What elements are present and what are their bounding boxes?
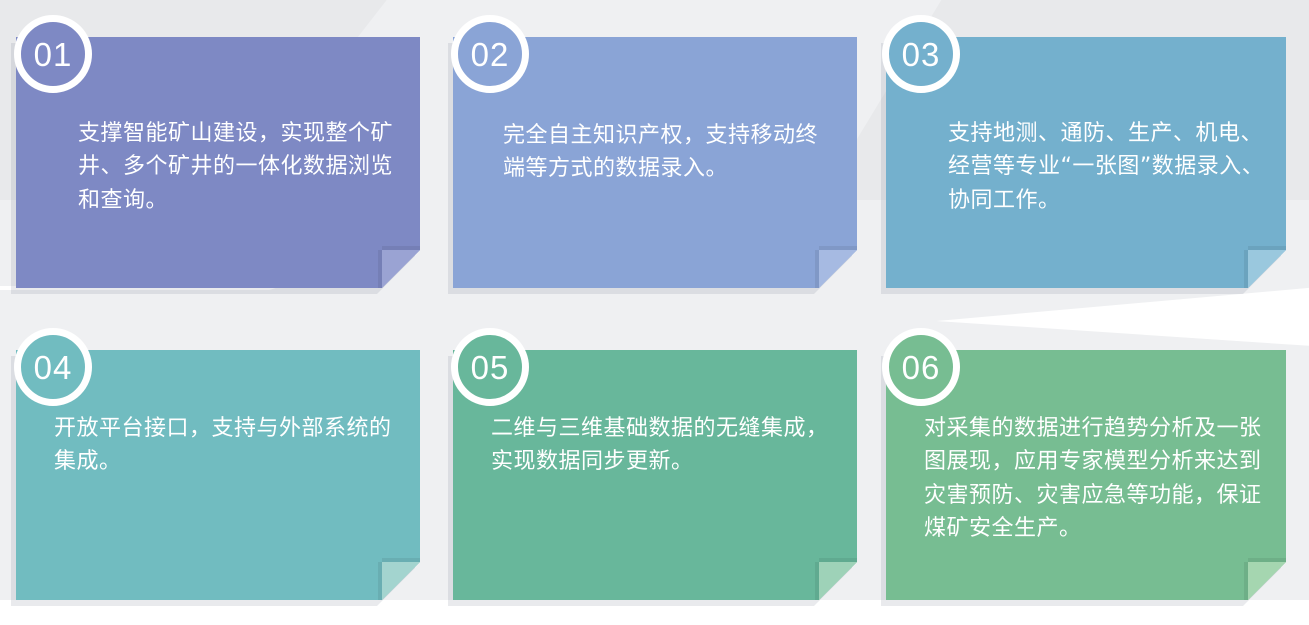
feature-card-06[interactable]: 06 对采集的数据进行趋势分析及一张图展现，应用专家模型分析来达到灾害预防、灾害…	[886, 350, 1286, 600]
feature-card-01[interactable]: 01 支撑智能矿山建设，实现整个矿井、多个矿井的一体化数据浏览和查询。	[16, 37, 420, 288]
folded-corner-icon	[819, 562, 857, 600]
card-number-badge: 06	[882, 328, 960, 406]
card-number-badge: 01	[14, 15, 92, 93]
folded-corner-icon	[382, 250, 420, 288]
card-fold-shadow-horizontal	[819, 558, 857, 562]
card-description: 对采集的数据进行趋势分析及一张图展现，应用专家模型分析来达到灾害预防、灾害应急等…	[924, 412, 1274, 546]
card-description: 开放平台接口，支持与外部系统的集成。	[54, 412, 404, 479]
card-fold-shadow-horizontal	[382, 246, 420, 250]
card-fold-shadow-vertical	[378, 562, 382, 600]
folded-corner-icon	[819, 250, 857, 288]
card-fold-shadow-horizontal	[1248, 558, 1286, 562]
card-fold-shadow-vertical	[815, 250, 819, 288]
feature-card-05[interactable]: 05 二维与三维基础数据的无缝集成，实现数据同步更新。	[453, 350, 857, 600]
card-fold-shadow-horizontal	[1248, 246, 1286, 250]
folded-corner-icon	[382, 562, 420, 600]
feature-card-02[interactable]: 02 完全自主知识产权，支持移动终端等方式的数据录入。	[453, 37, 857, 288]
card-fold-shadow-vertical	[1244, 250, 1248, 288]
card-number-badge: 05	[451, 328, 529, 406]
card-fold-shadow-vertical	[815, 562, 819, 600]
card-number-label: 04	[34, 351, 73, 384]
card-fold-shadow-vertical	[1244, 562, 1248, 600]
card-number-badge: 02	[451, 15, 529, 93]
card-fold-shadow-horizontal	[382, 558, 420, 562]
feature-card-04[interactable]: 04 开放平台接口，支持与外部系统的集成。	[16, 350, 420, 600]
card-description: 支持地测、通防、生产、机电、经营等专业“一张图”数据录入、协同工作。	[948, 117, 1273, 217]
card-description: 支撑智能矿山建设，实现整个矿井、多个矿井的一体化数据浏览和查询。	[78, 117, 398, 217]
card-number-label: 06	[902, 351, 941, 384]
slide-canvas: 01 支撑智能矿山建设，实现整个矿井、多个矿井的一体化数据浏览和查询。 02 完…	[0, 0, 1309, 625]
card-fold-shadow-vertical	[378, 250, 382, 288]
card-number-label: 03	[902, 38, 941, 71]
card-number-label: 02	[471, 38, 510, 71]
card-number-badge: 04	[14, 328, 92, 406]
card-description: 完全自主知识产权，支持移动终端等方式的数据录入。	[503, 119, 833, 186]
card-fold-shadow-horizontal	[819, 246, 857, 250]
feature-card-03[interactable]: 03 支持地测、通防、生产、机电、经营等专业“一张图”数据录入、协同工作。	[886, 37, 1286, 288]
card-number-label: 05	[471, 351, 510, 384]
card-number-badge: 03	[882, 15, 960, 93]
card-description: 二维与三维基础数据的无缝集成，实现数据同步更新。	[491, 412, 841, 479]
card-number-label: 01	[34, 38, 73, 71]
